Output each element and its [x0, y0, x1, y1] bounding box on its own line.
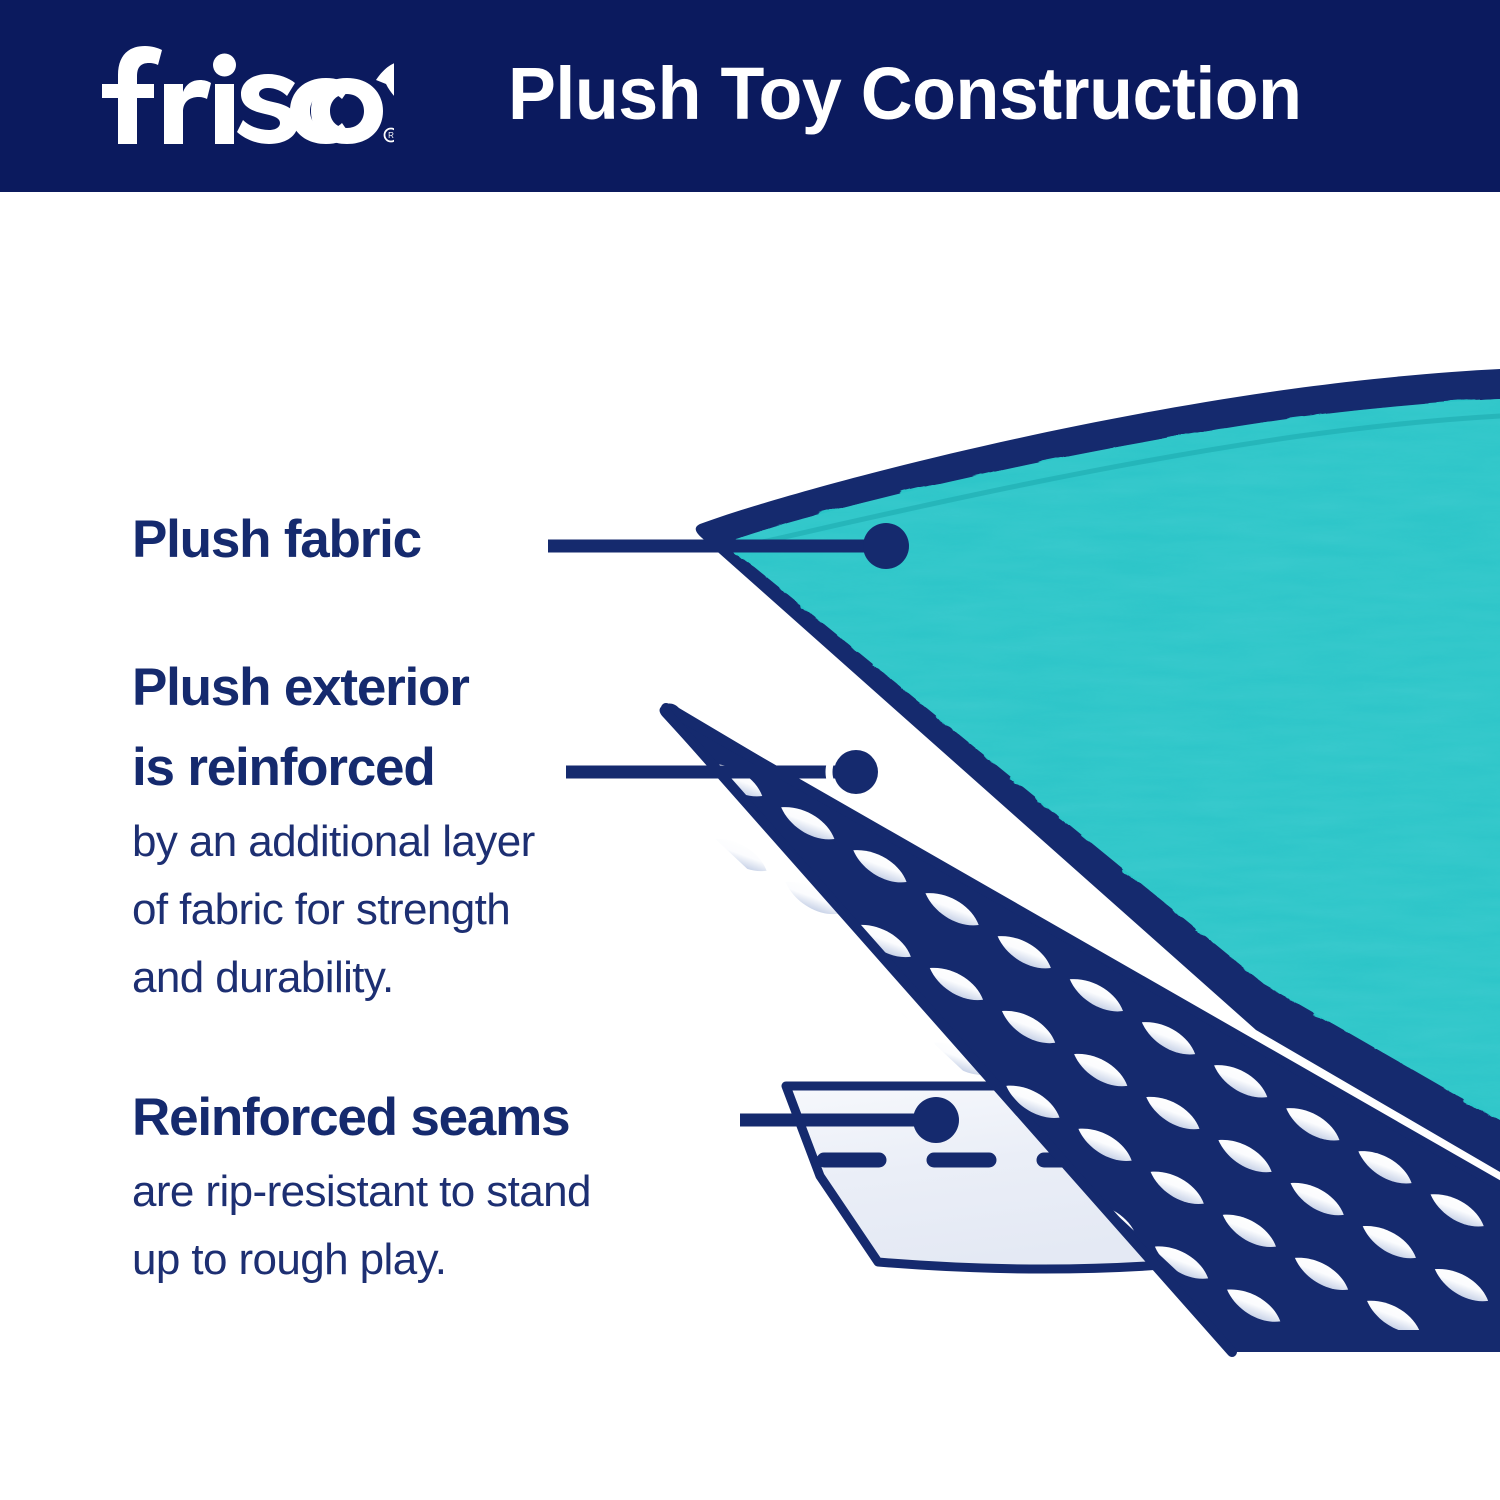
frisco-logo: R — [84, 40, 394, 150]
page-title: Plush Toy Construction — [508, 44, 1302, 144]
frisco-wordmark-icon: R — [84, 40, 394, 150]
callout-dot-reinforced-seams — [913, 1097, 959, 1143]
infographic-page: R Plush Toy Construction — [0, 0, 1500, 1500]
mesh-lens-grid — [545, 756, 1500, 1500]
reinforcement-mesh-layer — [545, 704, 1500, 1500]
callout-plush-exterior-heading: Plush exterior is reinforced — [132, 648, 535, 808]
leader-line-reinforced-seams — [740, 1097, 959, 1143]
callout-reinforced-seams: Reinforced seams are rip-resistant to st… — [132, 1078, 591, 1294]
leader-line-plush-fabric — [548, 523, 909, 569]
plush-fabric-layer — [696, 369, 1500, 1172]
callout-plush-exterior-body: by an additional layer of fabric for str… — [132, 808, 535, 1012]
callout-reinforced-seams-body: are rip-resistant to stand up to rough p… — [132, 1158, 591, 1294]
callout-reinforced-seams-heading: Reinforced seams — [132, 1078, 591, 1158]
leader-line-plush-exterior — [566, 745, 883, 799]
callout-dot-plush-fabric — [863, 523, 909, 569]
callout-plush-exterior: Plush exterior is reinforced by an addit… — [132, 648, 535, 1012]
callout-plush-fabric-heading: Plush fabric — [132, 500, 421, 580]
callout-plush-fabric: Plush fabric — [132, 500, 421, 580]
callout-leader-lines — [548, 523, 959, 1143]
svg-text:R: R — [388, 131, 394, 140]
header-bar: R Plush Toy Construction — [0, 0, 1500, 192]
reinforced-seam-flap — [786, 1086, 1236, 1269]
callout-dot-plush-exterior — [834, 750, 878, 794]
